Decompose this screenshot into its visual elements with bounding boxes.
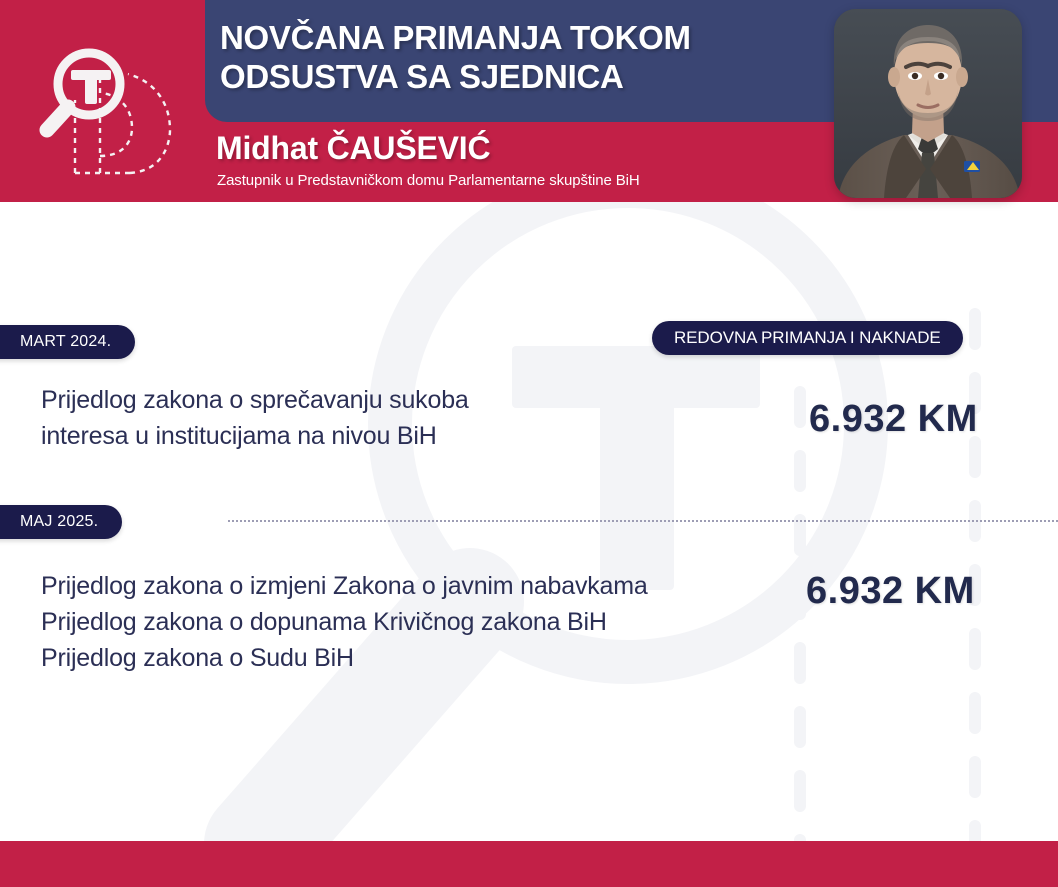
category-badge: REDOVNA PRIMANJA I NAKNADE bbox=[652, 321, 963, 355]
infographic-poster: NOVČANA PRIMANJA TOKOM ODSUSTVA SA SJEDN… bbox=[0, 0, 1058, 887]
description-1: Prijedlog zakona o sprečavanju sukoba in… bbox=[41, 382, 661, 454]
description-line: Prijedlog zakona o izmjeni Zakona o javn… bbox=[41, 568, 761, 604]
period-badge-2: MAJ 2025. bbox=[0, 505, 122, 539]
person-name: Midhat ČAUŠEVIĆ bbox=[216, 130, 490, 167]
avatar bbox=[834, 9, 1022, 198]
person-role: Zastupnik u Predstavničkom domu Parlamen… bbox=[217, 172, 640, 189]
description-line: interesa u institucijama na nivou BiH bbox=[41, 418, 661, 454]
page-title: NOVČANA PRIMANJA TOKOM ODSUSTVA SA SJEDN… bbox=[220, 18, 840, 97]
magnifier-d-logo-icon bbox=[28, 38, 188, 188]
section-divider bbox=[228, 520, 1058, 524]
category-label: REDOVNA PRIMANJA I NAKNADE bbox=[674, 328, 941, 348]
description-2: Prijedlog zakona o izmjeni Zakona o javn… bbox=[41, 568, 761, 676]
person-last-name: ČAUŠEVIĆ bbox=[327, 130, 491, 166]
footer-bar bbox=[0, 841, 1058, 887]
amount-value-1: 6.932 KM bbox=[809, 398, 978, 441]
period-label-1: MART 2024. bbox=[20, 333, 111, 351]
description-line: Prijedlog zakona o dopunama Krivičnog za… bbox=[41, 604, 761, 640]
person-first-name: Midhat bbox=[216, 130, 318, 166]
period-label-2: MAJ 2025. bbox=[20, 513, 98, 531]
description-line: Prijedlog zakona o Sudu BiH bbox=[41, 640, 761, 676]
description-line: Prijedlog zakona o sprečavanju sukoba bbox=[41, 382, 661, 418]
period-badge-1: MART 2024. bbox=[0, 325, 135, 359]
amount-value-2: 6.932 KM bbox=[806, 570, 975, 613]
